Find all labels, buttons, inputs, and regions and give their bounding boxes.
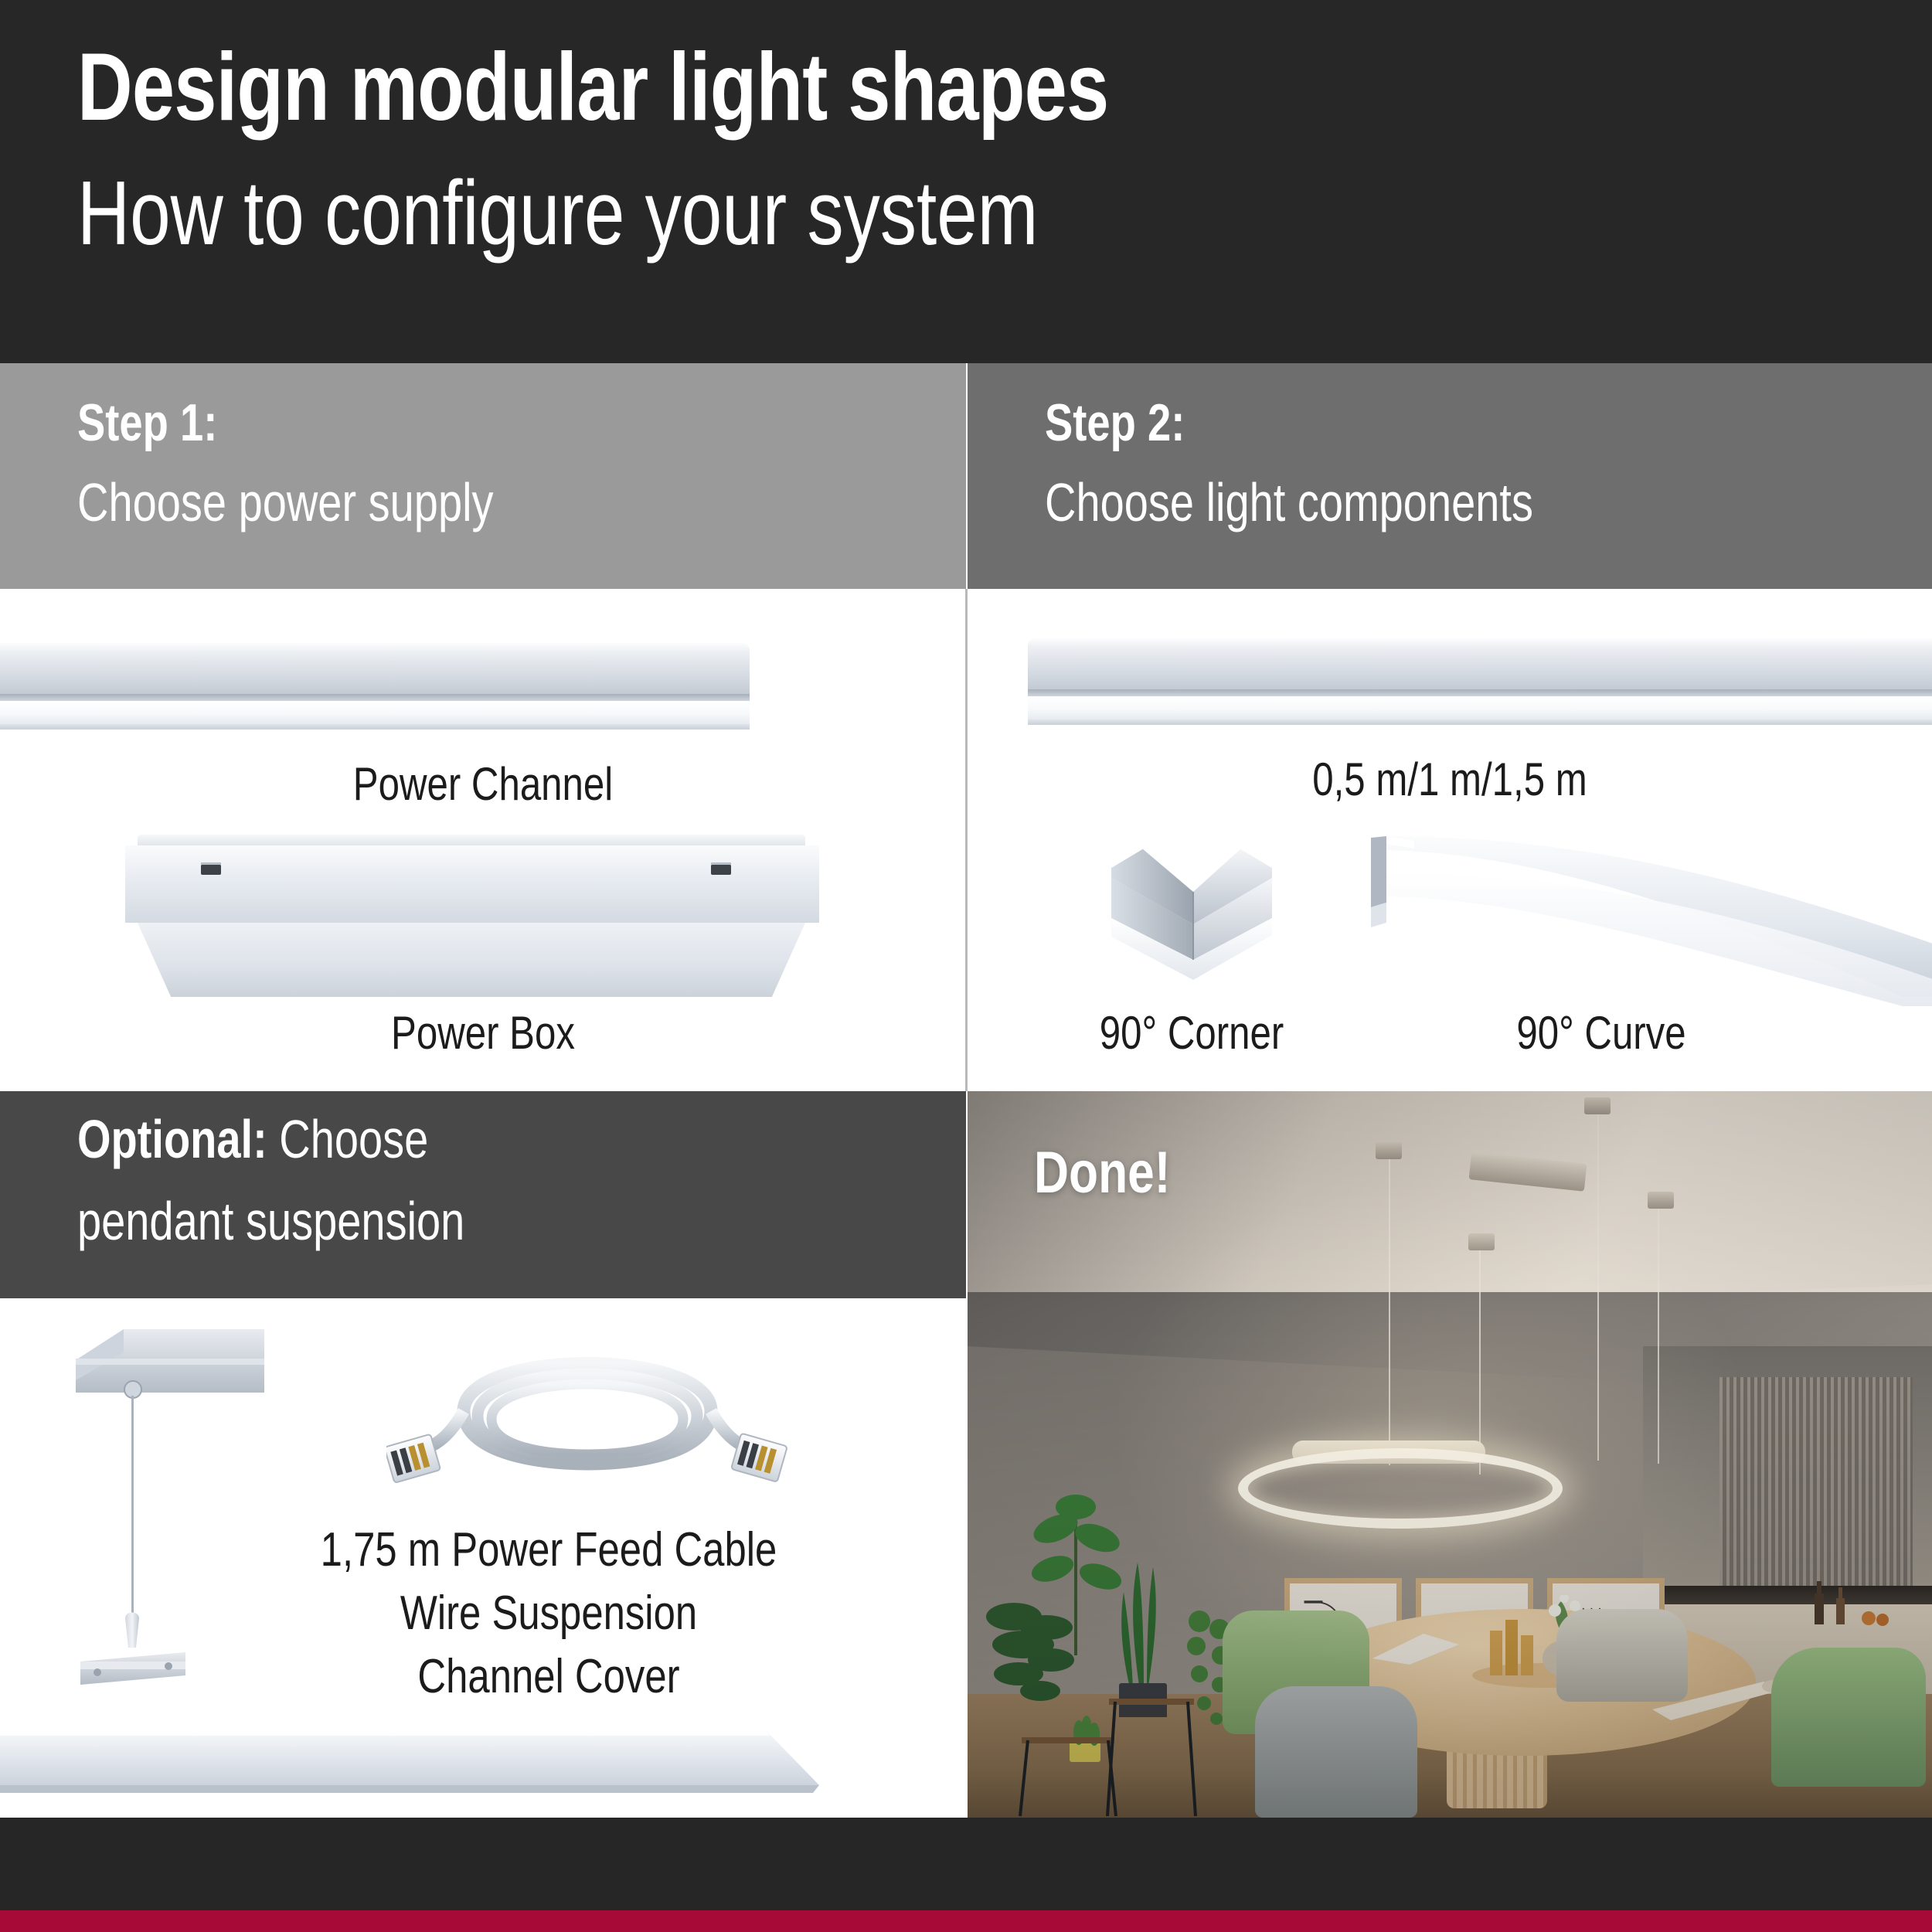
ceiling-mount-4 xyxy=(1648,1192,1674,1209)
curve-connector-caption: 90° Curve xyxy=(1437,1006,1766,1060)
power-box-caption: Power Box xyxy=(87,1006,879,1060)
optional-label-rest: Choose xyxy=(267,1109,429,1169)
light-bar-caption: 0,5 m/1 m/1,5 m xyxy=(1054,753,1845,806)
ceiling-mount-1 xyxy=(1376,1142,1402,1159)
power-channel-caption: Power Channel xyxy=(87,757,879,811)
power-feed-cable-caption: 1,75 m Power Feed Cable xyxy=(270,1522,828,1577)
optional-content-panel: 1,75 m Power Feed Cable Wire Suspension … xyxy=(0,1298,966,1818)
wire-suspension-image xyxy=(70,1315,301,1694)
light-bar-image xyxy=(1028,637,1932,728)
suspension-wire-2 xyxy=(1597,1114,1599,1461)
wall-slats xyxy=(1719,1377,1913,1609)
power-box-clip-left xyxy=(201,862,221,875)
ceiling-mount-2 xyxy=(1584,1097,1611,1114)
wire-suspension-caption: Wire Suspension xyxy=(270,1586,828,1641)
power-channel-image xyxy=(0,641,750,733)
ceiling xyxy=(968,1091,1932,1323)
infographic-page: Design modular light shapes How to confi… xyxy=(0,0,1932,1932)
done-photo-scene: Done! xyxy=(968,1091,1932,1818)
step2-label: Step 2: xyxy=(1045,393,1185,453)
optional-label: Optional: Choose xyxy=(77,1108,428,1170)
chair-beige-back xyxy=(1556,1609,1688,1702)
plant-stand-2 xyxy=(1103,1694,1234,1818)
curve-connector-image xyxy=(1369,836,1932,1006)
suspension-wire-4 xyxy=(1658,1209,1659,1464)
bottom-accent-band xyxy=(0,1910,1932,1932)
masthead: Design modular light shapes How to confi… xyxy=(0,0,1932,363)
channel-cover-image xyxy=(0,1728,850,1805)
step2-instruction: Choose light components xyxy=(1045,471,1533,533)
optional-label-bold: Optional: xyxy=(77,1109,267,1169)
optional-instruction: pendant suspension xyxy=(77,1190,464,1252)
power-box-clip-right xyxy=(711,862,731,875)
step1-header-band: Step 1: Choose power supply xyxy=(0,363,966,589)
ring-pendant-light xyxy=(1238,1448,1563,1529)
page-title: Design modular light shapes xyxy=(77,37,1108,138)
channel-cover-caption: Channel Cover xyxy=(270,1649,828,1704)
table-napkin xyxy=(1369,1628,1462,1666)
chair-green-right xyxy=(1771,1648,1926,1787)
bottom-dark-band xyxy=(0,1818,1932,1910)
counter-bottles xyxy=(1804,1578,1896,1628)
page-subtitle: How to configure your system xyxy=(77,166,1038,262)
chair-gray-front xyxy=(1255,1686,1417,1818)
corner-connector-caption: 90° Corner xyxy=(1046,1006,1337,1060)
step2-content-panel: 0,5 m/1 m/1,5 m xyxy=(968,589,1932,1091)
step1-content-panel: Power Channel Power Box xyxy=(0,589,966,1091)
step1-instruction: Choose power supply xyxy=(77,471,494,533)
ceiling-mount-3 xyxy=(1468,1233,1495,1250)
optional-header-band: Optional: Choose pendant suspension xyxy=(0,1091,966,1298)
corner-connector-image xyxy=(1107,844,1277,991)
power-box-image xyxy=(124,835,819,1001)
power-feed-cable-image xyxy=(386,1320,788,1505)
step1-label: Step 1: xyxy=(77,393,217,453)
suspension-wire-1 xyxy=(1389,1159,1390,1465)
done-label: Done! xyxy=(1034,1139,1171,1206)
step2-header-band: Step 2: Choose light components xyxy=(968,363,1932,589)
